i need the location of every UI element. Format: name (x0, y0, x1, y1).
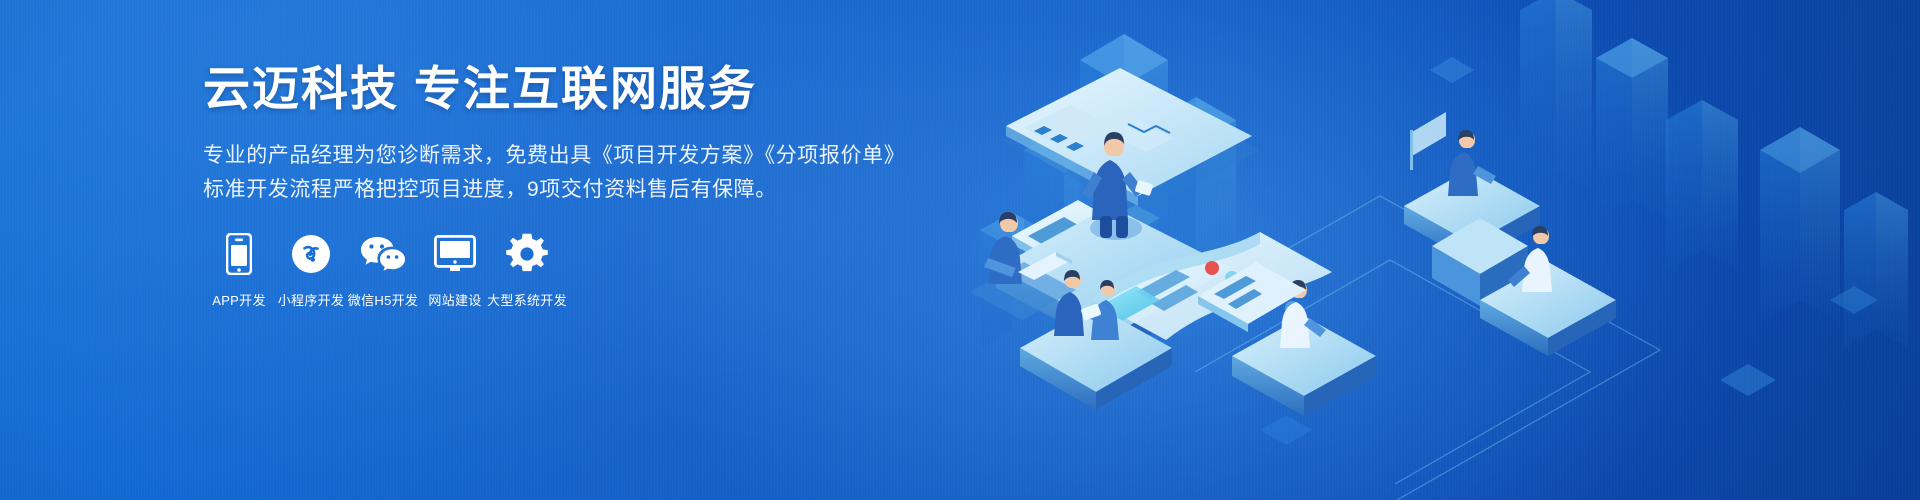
promo-banner: 云迈科技 专注互联网服务 专业的产品经理为您诊断需求，免费出具《项目开发方案》《… (0, 0, 1920, 500)
service-label: APP开发 (212, 290, 266, 309)
gear-icon (506, 232, 548, 276)
banner-subtitle-line-1: 专业的产品经理为您诊断需求，免费出具《项目开发方案》《分项报价单》 (203, 139, 963, 173)
service-item-website[interactable]: 网站建设 (419, 232, 491, 309)
banner-text-block: 云迈科技 专注互联网服务 专业的产品经理为您诊断需求，免费出具《项目开发方案》《… (203, 62, 963, 207)
banner-subtitle-line-2: 标准开发流程严格把控项目进度，9项交付资料售后有保障。 (203, 173, 963, 207)
service-item-large-system[interactable]: 大型系统开发 (491, 232, 563, 309)
service-item-mini-program[interactable]: 小程序开发 (275, 232, 347, 309)
service-label: 大型系统开发 (487, 290, 567, 309)
banner-headline: 云迈科技 专注互联网服务 (203, 62, 963, 117)
service-label: 网站建设 (428, 290, 481, 309)
service-list: APP开发 小程序开发 (203, 232, 563, 309)
wechat-icon (360, 232, 406, 276)
marker-flag (1410, 112, 1446, 170)
mini-program-icon (291, 232, 331, 276)
monitor-icon (434, 232, 476, 276)
service-label: 小程序开发 (278, 290, 345, 309)
service-label: 微信H5开发 (348, 290, 418, 309)
isometric-illustration (960, 0, 1920, 500)
service-item-app[interactable]: APP开发 (203, 232, 275, 309)
service-item-wechat-h5[interactable]: 微信H5开发 (347, 232, 419, 309)
smartphone-icon (226, 232, 252, 276)
